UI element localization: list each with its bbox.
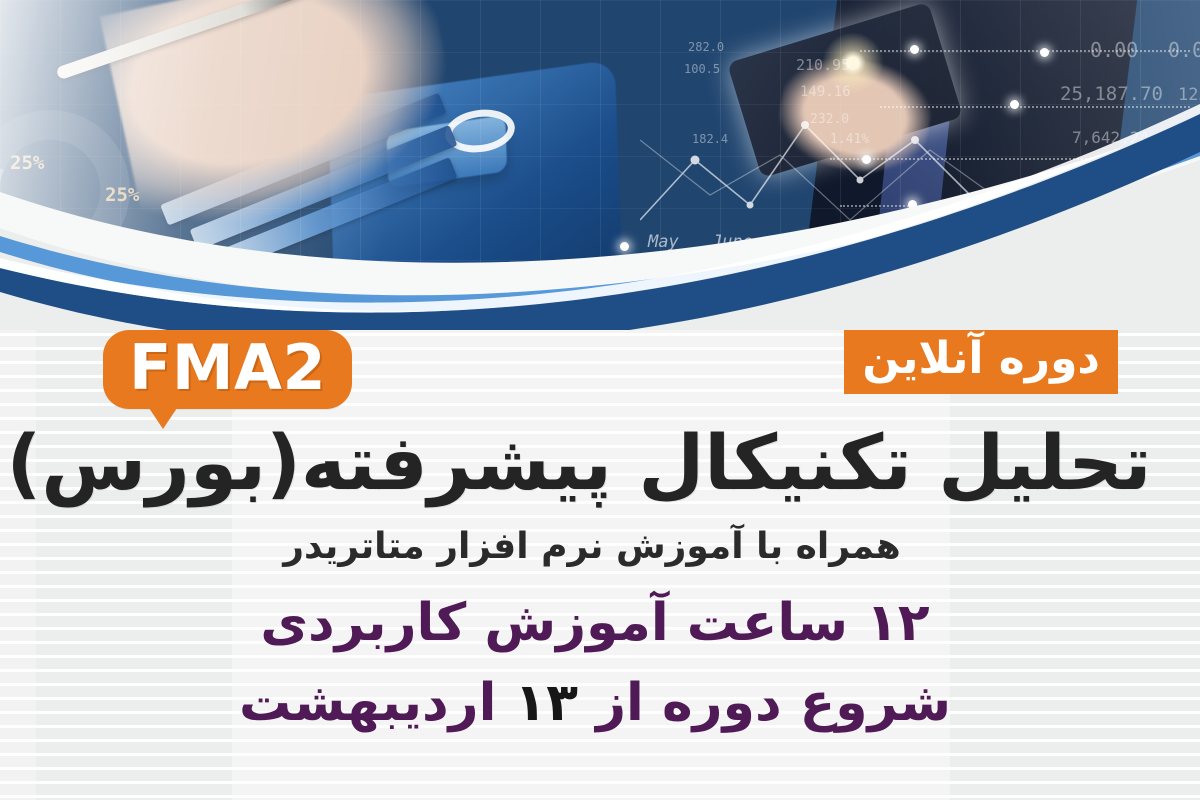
course-code-badge: FMA2: [103, 330, 352, 409]
badge-bubble: FMA2: [103, 330, 352, 409]
course-start-date-line: شروع دوره از ۱۳ اردیبهشت: [0, 672, 1200, 735]
online-course-ribbon-label: دوره آنلاین: [862, 333, 1100, 385]
course-start-day-number: ۱۳: [515, 673, 578, 733]
course-start-suffix: اردیبهشت: [239, 673, 515, 733]
course-subtitle: همراه با آموزش نرم افزار متاتریدر: [0, 525, 1200, 568]
header-swoosh-divider: [0, 0, 1200, 330]
course-title: تحلیل تکنیکال پیشرفته(بورس): [0, 420, 1200, 505]
poster-root: 210.95149.16232.01.41%0.000.0025,187.701…: [0, 0, 1200, 800]
online-course-ribbon: دوره آنلاین: [844, 330, 1118, 394]
poster-content: تحلیل تکنیکال پیشرفته(بورس) همراه با آمو…: [0, 420, 1200, 735]
course-start-prefix: شروع دوره از: [578, 673, 951, 733]
course-hours-line: ۱۲ ساعت آموزش کاربردی: [0, 592, 1200, 655]
course-hours-number: ۱۲: [866, 593, 929, 653]
course-hours-text: ساعت آموزش کاربردی: [260, 593, 866, 653]
badge-label: FMA2: [129, 336, 326, 399]
